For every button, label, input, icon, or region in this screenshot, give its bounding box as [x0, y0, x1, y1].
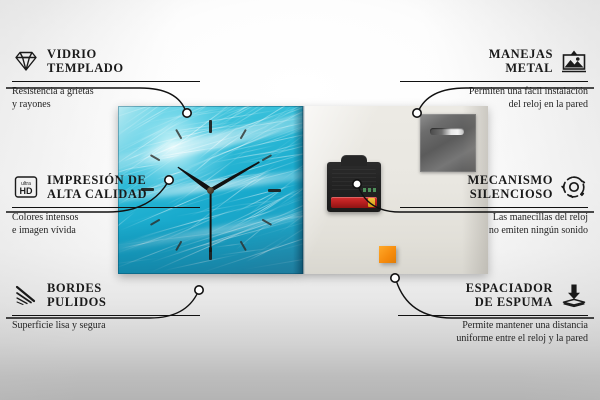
callout-header: BORDES PULIDOS [12, 278, 200, 312]
metal-hanger-plate [420, 114, 476, 172]
callout-rule [12, 207, 200, 208]
callout-rule [400, 81, 588, 82]
callout-title-line1: ESPACIADOR [466, 281, 553, 295]
clock-center-pin [207, 187, 214, 194]
callout-title: VIDRIO TEMPLADO [47, 47, 124, 75]
callout-header: VIDRIO TEMPLADO [12, 44, 200, 78]
diamond-icon [12, 48, 40, 74]
clock-second-hand [210, 190, 212, 252]
hanger-slot [430, 128, 464, 135]
mechanism-knob [341, 155, 367, 166]
callout-desc-line2: del reloj en la pared [400, 99, 588, 112]
callout-description: Las manecillas del reloj no emiten ningú… [400, 212, 588, 237]
callout-title-line2: ALTA CALIDAD [47, 187, 147, 201]
svg-text:HD: HD [20, 186, 33, 196]
callout-header: MECANISMO SILENCIOSO [400, 170, 588, 204]
callout-manejas-metal: MANEJAS METAL Permiten una fácil instala… [400, 44, 588, 111]
callout-title-line1: MECANISMO [467, 173, 553, 187]
clock-tick [211, 189, 281, 191]
foam-spacer [379, 246, 396, 263]
callout-rule [398, 315, 588, 316]
callout-desc-line2: uniforme entre el reloj y la pared [398, 333, 588, 346]
battery [331, 197, 377, 208]
callout-title-line1: VIDRIO [47, 47, 97, 61]
callout-espaciador-espuma: ESPACIADOR DE ESPUMA Permite mantener un… [398, 278, 588, 345]
callout-vidrio-templado: VIDRIO TEMPLADO Resistencia a grietas y … [12, 44, 200, 111]
callout-description: Permiten una fácil instalación del reloj… [400, 86, 588, 111]
callout-desc-line2: y rayones [12, 99, 200, 112]
callout-desc-line2: e imagen vívida [12, 225, 200, 238]
callout-desc-line1: Las manecillas del reloj [400, 212, 588, 225]
ultra-hd-badge-icon: ultra HD [12, 174, 40, 200]
callout-rule [400, 207, 588, 208]
callout-title-line2: METAL [489, 61, 553, 75]
callout-header: MANEJAS METAL [400, 44, 588, 78]
callout-title-line2: PULIDOS [47, 295, 106, 309]
picture-frame-hanger-icon [560, 48, 588, 74]
callout-desc-line1: Permite mantener una distancia [398, 320, 588, 333]
callout-title-line1: BORDES [47, 281, 102, 295]
callout-title-line2: DE ESPUMA [466, 295, 553, 309]
callout-rule [12, 81, 200, 82]
clock-tick [210, 120, 212, 190]
callout-title: BORDES PULIDOS [47, 281, 106, 309]
callout-description: Permite mantener una distancia uniforme … [398, 320, 588, 345]
callout-desc-line1: Permiten una fácil instalación [400, 86, 588, 99]
callout-desc-line2: no emiten ningún sonido [400, 225, 588, 238]
callout-description: Superficie lisa y segura [12, 320, 200, 333]
callout-desc-line1: Colores intensos [12, 212, 200, 225]
arrow-down-layers-icon [560, 282, 588, 308]
callout-title-line1: MANEJAS [489, 47, 553, 61]
infographic-canvas: VIDRIO TEMPLADO Resistencia a grietas y … [0, 0, 600, 400]
callout-title: MANEJAS METAL [489, 47, 553, 75]
callout-title-line1: IMPRESIÓN DE [47, 173, 146, 187]
callout-bordes-pulidos: BORDES PULIDOS Superficie lisa y segura [12, 278, 200, 333]
callout-title: ESPACIADOR DE ESPUMA [466, 281, 553, 309]
mechanism-label [363, 188, 377, 192]
callout-description: Resistencia a grietas y rayones [12, 86, 200, 111]
callout-title-line2: TEMPLADO [47, 61, 124, 75]
polished-edges-icon [12, 282, 40, 308]
callout-header: ultra HD IMPRESIÓN DE ALTA CALIDAD [12, 170, 200, 204]
quartz-mechanism [327, 162, 381, 212]
callout-mecanismo-silencioso: MECANISMO SILENCIOSO Las manecillas del … [400, 170, 588, 237]
panel-seam [303, 106, 305, 274]
callout-rule [12, 315, 200, 316]
callout-desc-line1: Superficie lisa y segura [12, 320, 200, 333]
callout-title: MECANISMO SILENCIOSO [467, 173, 553, 201]
gear-icon [560, 174, 588, 200]
callout-title-line2: SILENCIOSO [467, 187, 553, 201]
callout-impresion-alta-calidad: ultra HD IMPRESIÓN DE ALTA CALIDAD Color… [12, 170, 200, 237]
callout-desc-line1: Resistencia a grietas [12, 86, 200, 99]
callout-title: IMPRESIÓN DE ALTA CALIDAD [47, 173, 147, 201]
callout-header: ESPACIADOR DE ESPUMA [398, 278, 588, 312]
callout-description: Colores intensos e imagen vívida [12, 212, 200, 237]
